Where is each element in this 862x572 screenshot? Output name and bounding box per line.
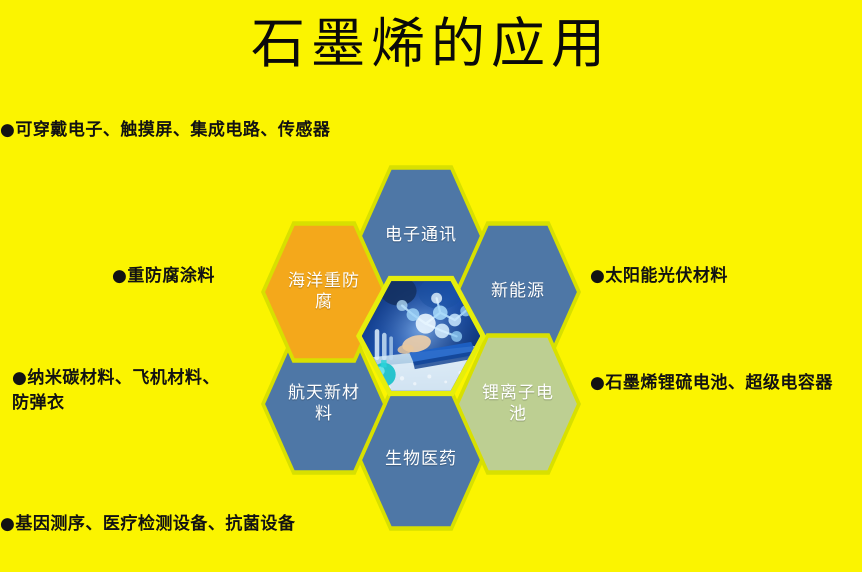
hex-label-new-energy: 新能源 xyxy=(475,281,561,302)
callout-left-coatings: ●重防腐涂料 xyxy=(112,264,215,289)
callout-left-materials: ●纳米碳材料、飞机材料、 防弹衣 xyxy=(12,366,247,415)
callout-top-electronics: ●可穿戴电子、触摸屏、集成电路、传感器 xyxy=(0,118,330,143)
callout-right-solar: ●太阳能光伏材料 xyxy=(590,264,728,289)
graphene-applications-infographic: 石墨烯的应用 ●可穿戴电子、触摸屏、集成电路、传感器 ●太阳能光伏材料 ●石墨烯… xyxy=(0,0,862,572)
laboratory-photo-graphic xyxy=(362,280,480,393)
hex-label-electronics: 电子通讯 xyxy=(369,225,473,246)
callout-bottom-medical: ●基因测序、医疗检测设备、抗菌设备 xyxy=(0,512,295,537)
hex-label-anticorrosion: 海洋重防腐 xyxy=(265,271,383,314)
page-title: 石墨烯的应用 xyxy=(0,14,862,73)
hex-label-biomedicine: 生物医药 xyxy=(369,449,473,470)
callout-right-batteries: ●石墨烯锂硫电池、超级电容器 xyxy=(590,371,833,396)
hex-label-li-ion: 锂离子电池 xyxy=(459,383,577,426)
laboratory-photo xyxy=(362,280,480,393)
honeycomb-diagram: 电子通讯 新能源 锂离子电池 生物医药 航天新材料 海洋重防腐 xyxy=(243,163,598,508)
hex-label-aerospace: 航天新材料 xyxy=(265,383,383,426)
